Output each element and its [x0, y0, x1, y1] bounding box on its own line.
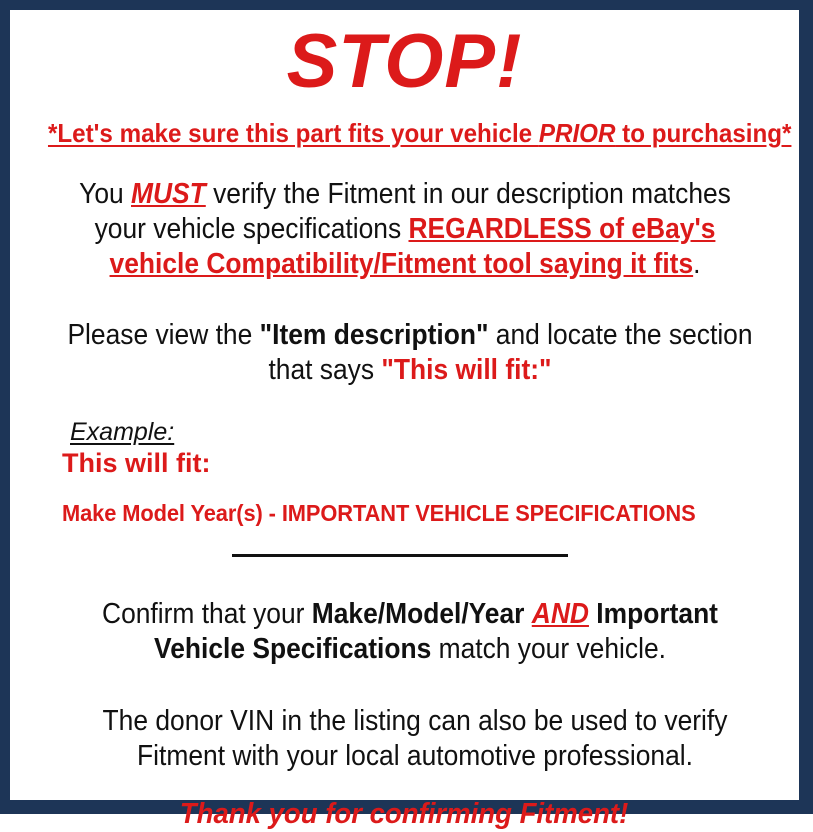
thank-you-line: Thank you for confirming Fitment! — [20, 796, 789, 832]
confirm-text-2: match your vehicle. — [431, 633, 666, 665]
example-spec-line-text: Make Model Year(s) - IMPORTANT VEHICLE S… — [62, 499, 696, 527]
emphasis-must: MUST — [131, 178, 206, 210]
subtitle-emphasis-prior: PRIOR — [539, 118, 616, 148]
paragraph-donor-vin: The donor VIN in the listing can also be… — [20, 704, 810, 774]
paragraph-must-verify-inner: You MUST verify the Fitment in our descr… — [55, 177, 756, 282]
emphasis-and: AND — [532, 598, 589, 630]
subtitle-inner: *Let's make sure this part fits your veh… — [48, 117, 791, 149]
emphasis-make-model-year: Make/Model/Year — [312, 598, 525, 630]
emphasis-this-will-fit: "This will fit:" — [381, 354, 551, 386]
must-text-3: . — [693, 248, 700, 280]
example-label: Example: — [62, 418, 174, 446]
divider-line — [232, 554, 568, 557]
paragraph-confirm: Confirm that your Make/Model/Year AND Im… — [20, 597, 800, 667]
paragraph-must-verify: You MUST verify the Fitment in our descr… — [20, 177, 790, 282]
emphasis-item-description: "Item description" — [260, 319, 489, 351]
paragraph-item-description-inner: Please view the "Item description" and l… — [55, 318, 765, 388]
example-spec-line: Make Model Year(s) - IMPORTANT VEHICLE S… — [62, 499, 789, 527]
paragraph-confirm-inner: Confirm that your Make/Model/Year AND Im… — [55, 597, 765, 667]
thank-you-text: Thank you for confirming Fitment! — [180, 796, 628, 832]
confirm-space-2 — [589, 598, 596, 630]
example-this-will-fit: This will fit: — [62, 447, 789, 479]
page-title: STOP! — [20, 10, 789, 105]
subtitle: *Let's make sure this part fits your veh… — [20, 117, 789, 149]
divider — [20, 551, 789, 561]
must-text-1: You — [79, 178, 131, 210]
example-block: Example: This will fit: Make Model Year(… — [20, 418, 789, 527]
subtitle-text-1: *Let's make sure this part fits your veh… — [48, 118, 539, 148]
itemdesc-text-1: Please view the — [67, 319, 259, 351]
subtitle-text-2: to purchasing* — [615, 118, 791, 148]
paragraph-item-description: Please view the "Item description" and l… — [20, 318, 800, 388]
fitment-notice-card: STOP! *Let's make sure this part fits yo… — [0, 0, 813, 814]
notice-content: STOP! *Let's make sure this part fits yo… — [10, 10, 799, 800]
confirm-space-1 — [524, 598, 531, 630]
confirm-text-1: Confirm that your — [102, 598, 312, 630]
paragraph-donor-vin-text: The donor VIN in the listing can also be… — [56, 704, 775, 774]
